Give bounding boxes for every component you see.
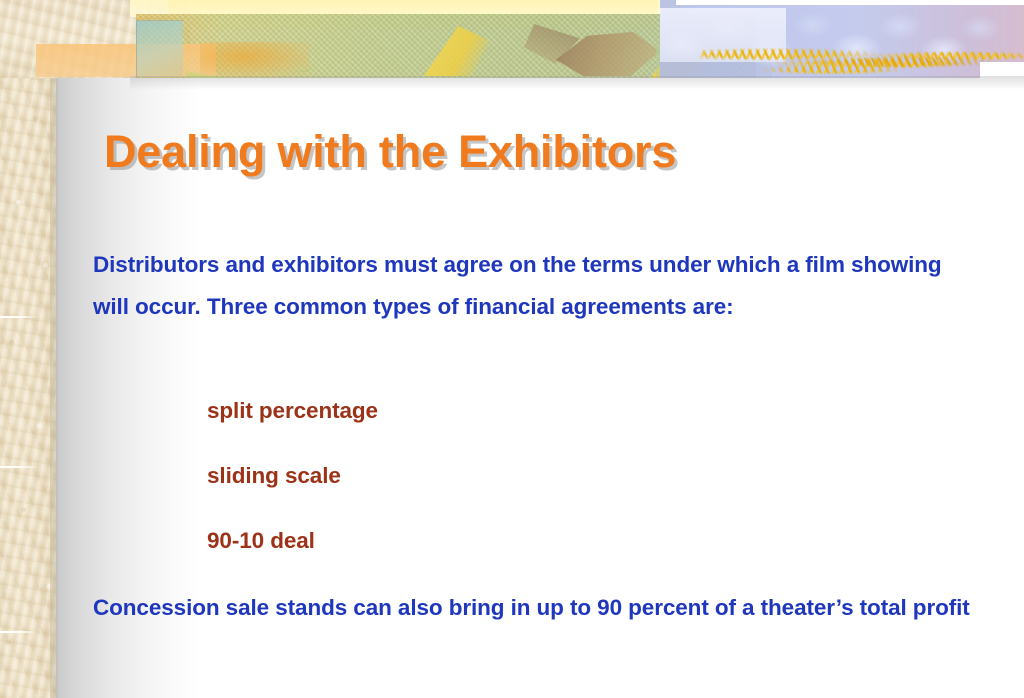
sand-texture-sidebar bbox=[0, 0, 56, 698]
sidebar-divider-line-3 bbox=[0, 631, 38, 633]
sidebar-divider-line-2 bbox=[0, 466, 38, 468]
banner-teal-square bbox=[136, 20, 183, 77]
decorative-header-banner bbox=[0, 0, 1024, 80]
banner-white-green-leaf-cluster-icon bbox=[186, 6, 270, 78]
intro-paragraph: Distributors and exhibitors must agree o… bbox=[93, 244, 983, 328]
banner-drop-shadow bbox=[130, 76, 1024, 90]
slide-canvas: Dealing with the Exhibitors Distributors… bbox=[0, 0, 1024, 698]
closing-paragraph: Concession sale stands can also bring in… bbox=[93, 587, 983, 629]
banner-green-sprig-icon-a bbox=[296, 28, 354, 72]
banner-top-white-line bbox=[676, 0, 1024, 5]
sub-item-sliding-scale: sliding scale bbox=[207, 463, 341, 489]
sub-item-split-percentage: split percentage bbox=[207, 398, 378, 424]
sand-grain-texture bbox=[0, 0, 56, 698]
sidebar-edge-shading bbox=[50, 0, 58, 698]
page-title: Dealing with the Exhibitors bbox=[104, 126, 676, 178]
banner-green-sprig-icon-b bbox=[352, 44, 406, 78]
sub-item-90-10-deal: 90-10 deal bbox=[207, 528, 315, 554]
sidebar-divider-line-1 bbox=[0, 316, 38, 318]
